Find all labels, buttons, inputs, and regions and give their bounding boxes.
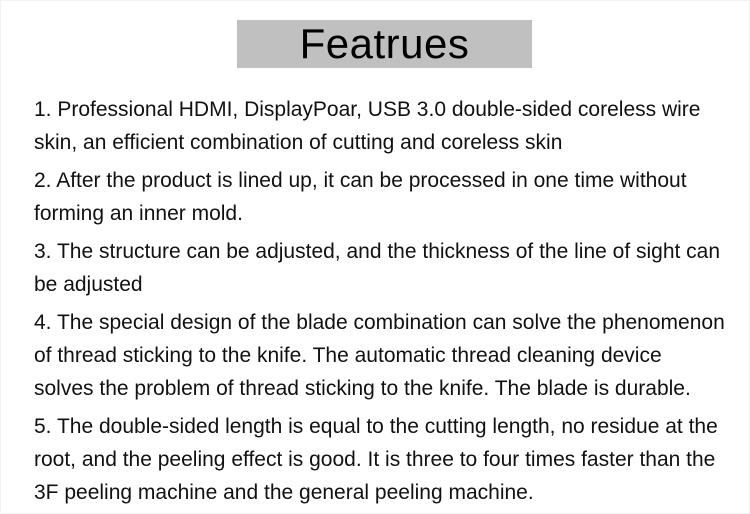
features-list: 1. Professional HDMI, DisplayPoar, USB 3… (34, 93, 726, 509)
feature-item: 2. After the product is lined up, it can… (34, 164, 726, 230)
feature-item: 3. The structure can be adjusted, and th… (34, 235, 726, 301)
page-title: Featrues (300, 22, 470, 66)
features-page: Featrues 1. Professional HDMI, DisplayPo… (0, 0, 750, 514)
title-banner: Featrues (237, 20, 532, 68)
feature-item: 5. The double-sided length is equal to t… (34, 410, 726, 509)
feature-item: 4. The special design of the blade combi… (34, 306, 726, 405)
feature-item: 1. Professional HDMI, DisplayPoar, USB 3… (34, 93, 726, 159)
